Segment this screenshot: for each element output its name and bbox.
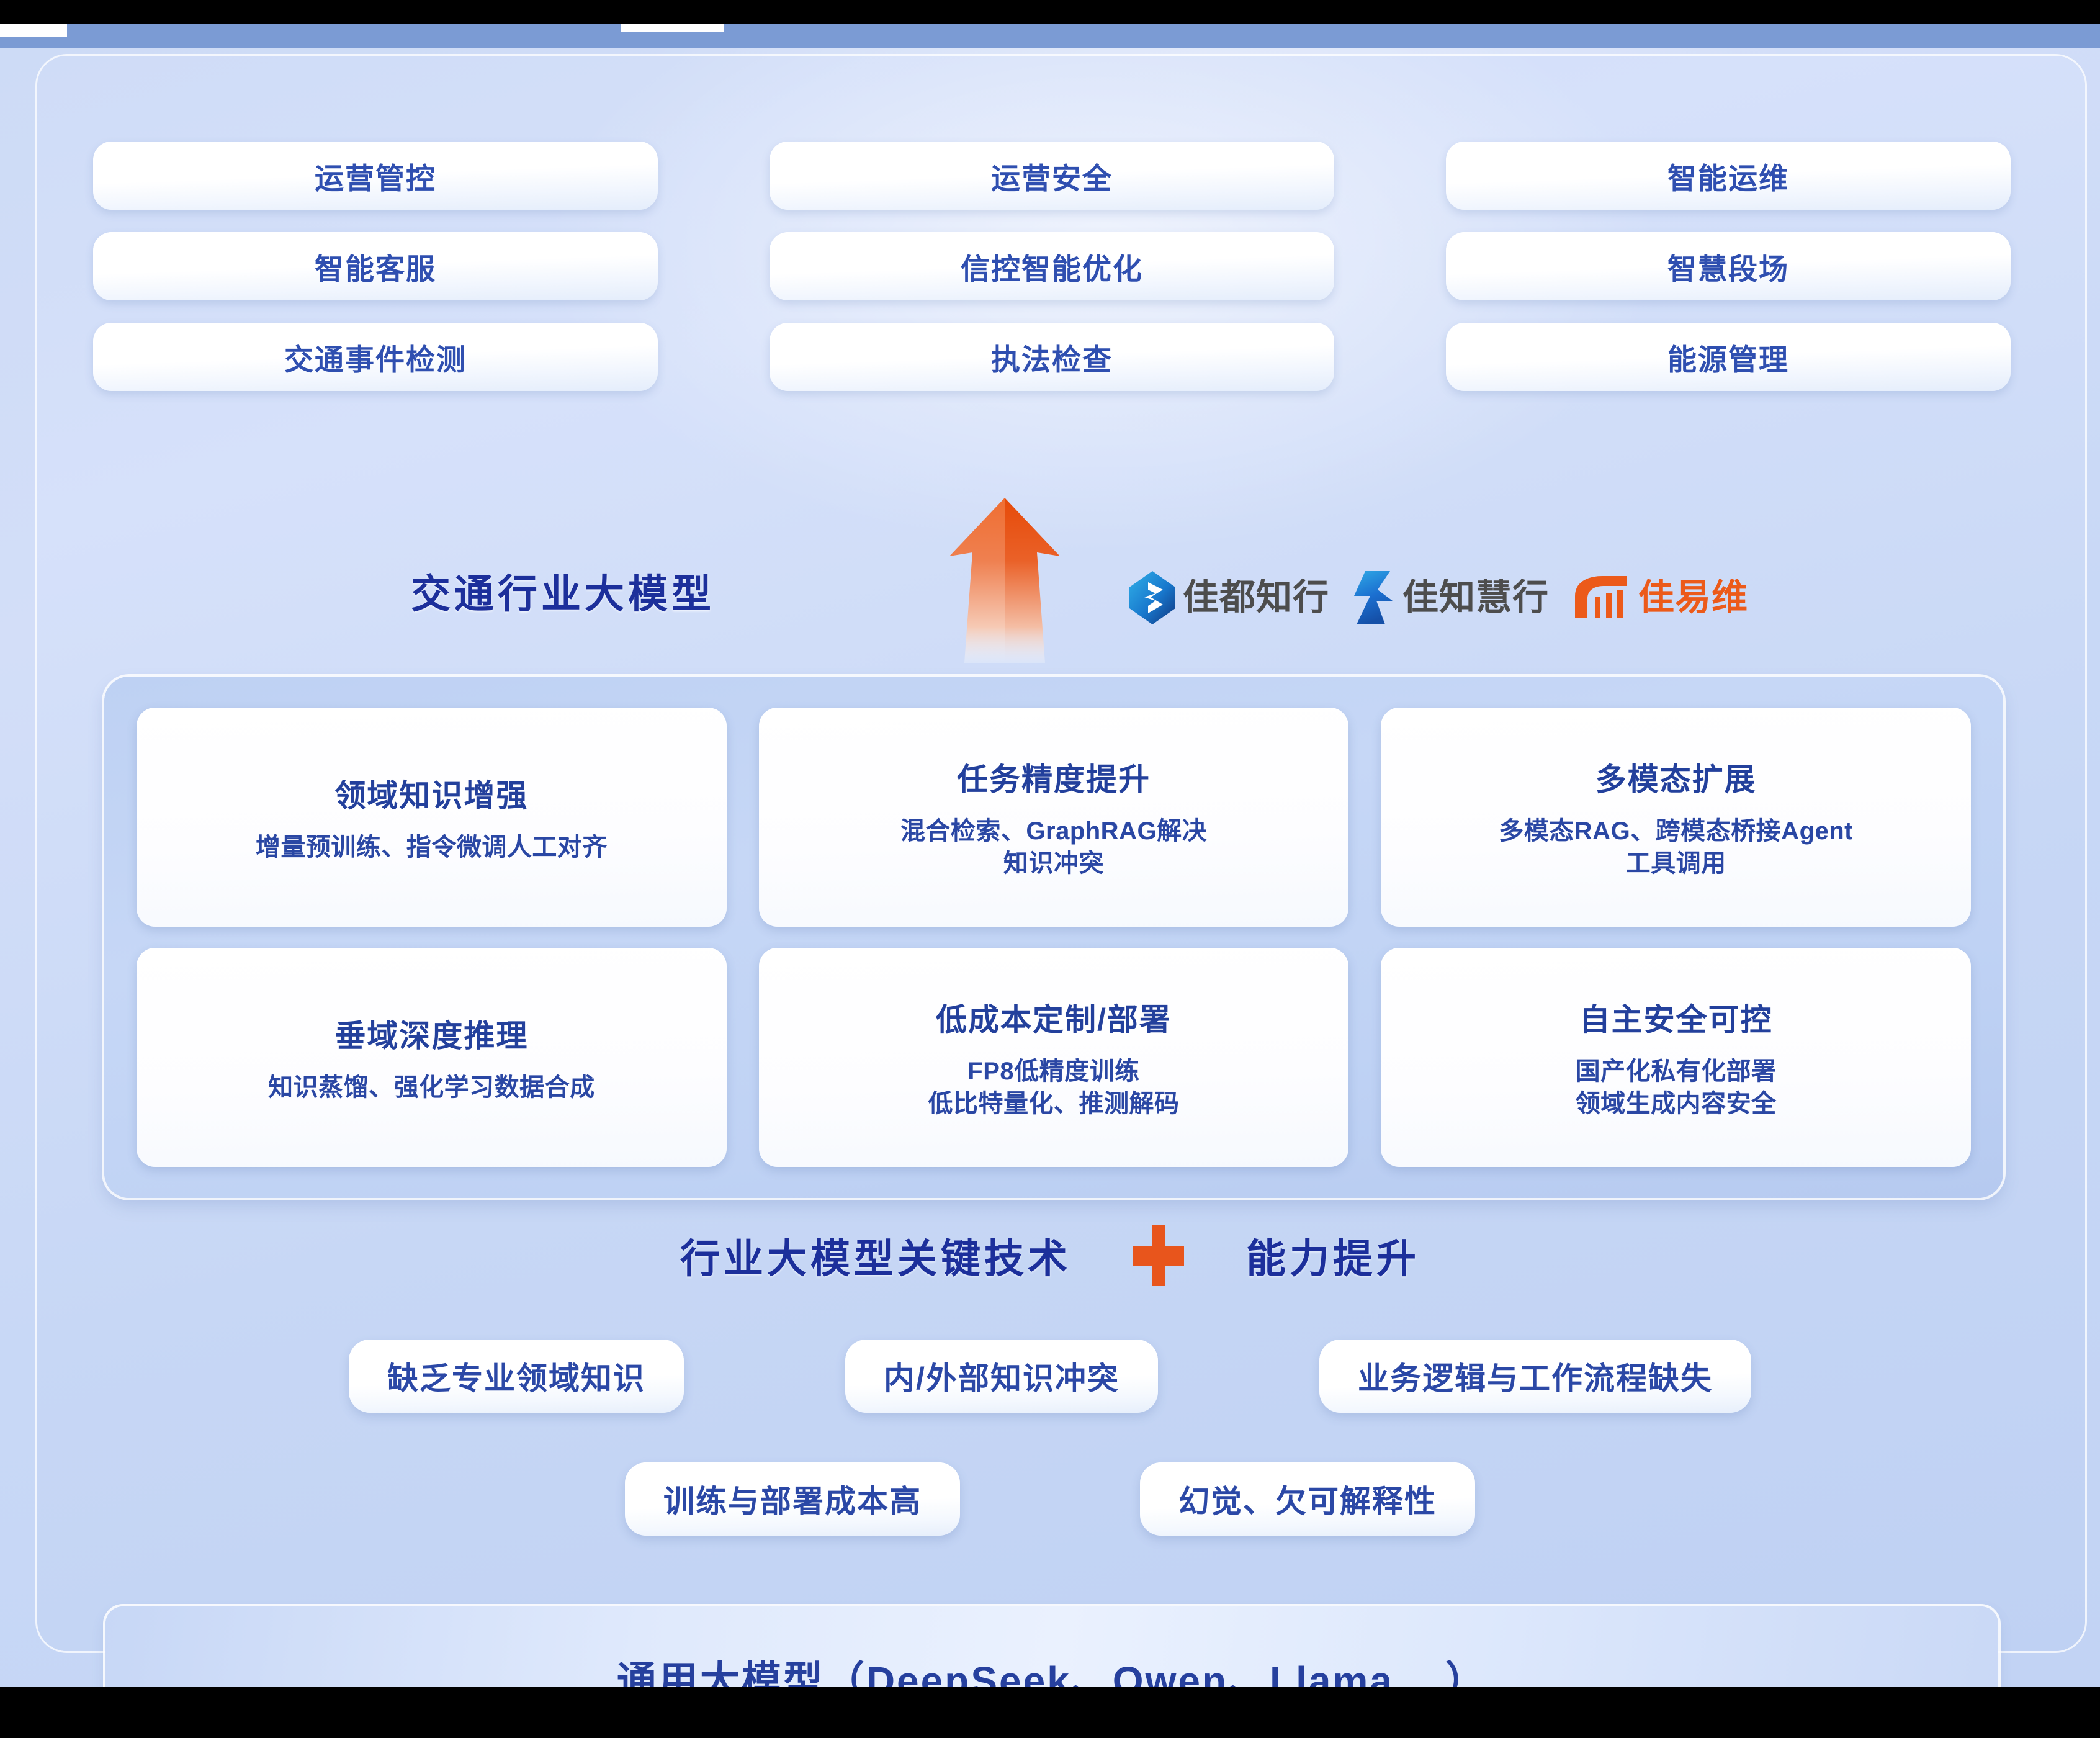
problem-pill-row-1: 缺乏专业领域知识 内/外部知识冲突 业务逻辑与工作流程缺失 <box>0 1340 2100 1413</box>
scenario-pill-smart-depot[interactable]: 智慧段场 <box>1446 232 2011 300</box>
scenario-label: 智慧段场 <box>1667 245 1789 288</box>
scenario-label: 运营安全 <box>991 155 1113 197</box>
topbar-notch-center <box>621 24 724 32</box>
tech-card-desc: 多模态RAG、跨模态桥接Agent工具调用 <box>1499 816 1853 879</box>
key-technology-label: 行业大模型关键技术 <box>680 1227 1071 1284</box>
problem-pill-knowledge-conflict[interactable]: 内/外部知识冲突 <box>845 1340 1158 1413</box>
key-technology-panel: 领域知识增强 增量预训练、指令微调人工对齐 任务精度提升 混合检索、GraphR… <box>104 677 2003 1198</box>
tech-card-title: 任务精度提升 <box>957 755 1151 799</box>
tech-card-title: 自主安全可控 <box>1579 995 1773 1040</box>
brand-name: 佳知慧行 <box>1402 580 1549 616</box>
scenario-pill-intelligent-ops[interactable]: 智能运维 <box>1446 142 2011 210</box>
scenario-pill-energy-management[interactable]: 能源管理 <box>1446 323 2011 391</box>
scenario-label: 信控智能优化 <box>961 245 1143 288</box>
scenario-pill-grid: 运营管控 运营安全 智能运维 智能客服 信控智能优化 智慧段场 交通事件检测 执… <box>93 142 2011 391</box>
brand-jiayiwei: 佳易维 <box>1571 575 1748 621</box>
scenario-label: 执法检查 <box>991 336 1113 379</box>
capability-uplift-label: 能力提升 <box>1246 1227 1420 1284</box>
scenario-label: 运营管控 <box>315 155 436 197</box>
tech-card-desc: 混合检索、GraphRAG解决知识冲突 <box>900 816 1207 879</box>
scenario-label: 能源管理 <box>1667 336 1789 379</box>
up-arrow-icon <box>946 495 1064 663</box>
tech-card-vertical-reasoning[interactable]: 垂域深度推理 知识蒸馏、强化学习数据合成 <box>137 948 727 1167</box>
problem-pill-missing-business-logic[interactable]: 业务逻辑与工作流程缺失 <box>1319 1340 1751 1413</box>
brand-jiadu-zhixing: 佳都知行 <box>1129 571 1329 624</box>
scenario-pill-law-enforcement-inspection[interactable]: 执法检查 <box>770 323 1334 391</box>
lightning-s-logo-icon <box>1352 571 1395 624</box>
tech-card-title: 领域知识增强 <box>334 771 528 816</box>
tech-card-desc: 增量预训练、指令微调人工对齐 <box>256 832 608 863</box>
slide-canvas: 运营管控 运营安全 智能运维 智能客服 信控智能优化 智慧段场 交通事件检测 执… <box>0 48 2100 1687</box>
diamond-knot-logo-icon <box>1129 571 1175 624</box>
brand-jiazhi-huixing: 佳知慧行 <box>1352 571 1549 624</box>
industry-model-title: 交通行业大模型 <box>411 562 715 619</box>
scenario-pill-operations-control[interactable]: 运营管控 <box>93 142 658 210</box>
tech-card-desc: FP8低精度训练低比特量化、推测解码 <box>928 1056 1179 1119</box>
plus-icon <box>1124 1222 1193 1290</box>
tech-card-multimodal[interactable]: 多模态扩展 多模态RAG、跨模态桥接Agent工具调用 <box>1381 708 1971 927</box>
problem-label: 幻觉、欠可解释性 <box>1178 1477 1437 1521</box>
brand-logo-row: 佳都知行 佳知慧行 <box>1129 571 1748 624</box>
scenario-label: 交通事件检测 <box>284 336 467 379</box>
tech-card-title: 垂域深度推理 <box>334 1011 528 1056</box>
tech-card-title: 低成本定制/部署 <box>936 995 1172 1040</box>
problem-pill-row-2: 训练与部署成本高 幻觉、欠可解释性 <box>0 1462 2100 1536</box>
brand-name: 佳易维 <box>1638 580 1748 616</box>
tech-card-task-accuracy[interactable]: 任务精度提升 混合检索、GraphRAG解决知识冲突 <box>759 708 1349 927</box>
tech-card-low-cost-deploy[interactable]: 低成本定制/部署 FP8低精度训练低比特量化、推测解码 <box>759 948 1349 1167</box>
key-technology-heading-row: 行业大模型关键技术 能力提升 <box>0 1222 2100 1290</box>
tech-card-title: 多模态扩展 <box>1595 755 1757 799</box>
foundation-model-label: 通用大模型（DeepSeek、Qwen、Llama ...） <box>617 1649 1487 1687</box>
problem-pill-high-training-cost[interactable]: 训练与部署成本高 <box>625 1462 960 1536</box>
scenario-pill-operations-safety[interactable]: 运营安全 <box>770 142 1334 210</box>
screenshot-frame: 运营管控 运营安全 智能运维 智能客服 信控智能优化 智慧段场 交通事件检测 执… <box>0 0 2100 1738</box>
scenario-label: 智能客服 <box>315 245 436 288</box>
problem-pill-hallucination[interactable]: 幻觉、欠可解释性 <box>1140 1462 1475 1536</box>
topbar-notch-left <box>0 24 67 37</box>
problem-pill-lack-domain-knowledge[interactable]: 缺乏专业领域知识 <box>349 1340 684 1413</box>
tech-card-desc: 国产化私有化部署领域生成内容安全 <box>1576 1056 1777 1119</box>
tech-card-domain-knowledge[interactable]: 领域知识增强 增量预训练、指令微调人工对齐 <box>137 708 727 927</box>
scenario-pill-signal-optimization[interactable]: 信控智能优化 <box>770 232 1334 300</box>
brand-name: 佳都知行 <box>1183 580 1329 616</box>
problem-label: 业务逻辑与工作流程缺失 <box>1358 1354 1713 1398</box>
problem-label: 训练与部署成本高 <box>663 1477 922 1521</box>
problem-label: 内/外部知识冲突 <box>884 1354 1120 1398</box>
problem-label: 缺乏专业领域知识 <box>387 1354 645 1398</box>
foundation-model-bar[interactable]: 通用大模型（DeepSeek、Qwen、Llama ...） <box>105 1606 1998 1687</box>
tech-card-desc: 知识蒸馏、强化学习数据合成 <box>268 1072 595 1104</box>
scenario-label: 智能运维 <box>1667 155 1789 197</box>
scenario-pill-traffic-incident-detection[interactable]: 交通事件检测 <box>93 323 658 391</box>
scenario-pill-smart-customer-service[interactable]: 智能客服 <box>93 232 658 300</box>
arch-lines-logo-icon <box>1571 575 1631 621</box>
tech-card-autonomous-security[interactable]: 自主安全可控 国产化私有化部署领域生成内容安全 <box>1381 948 1971 1167</box>
